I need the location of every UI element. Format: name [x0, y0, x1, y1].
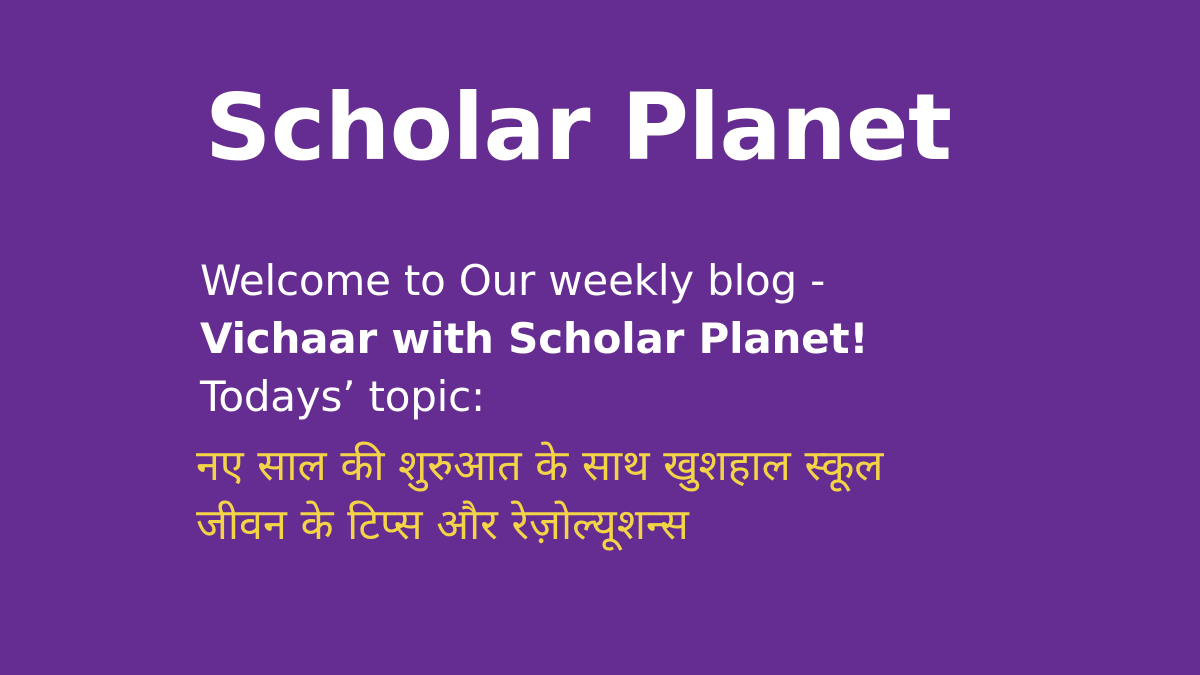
slide-canvas: Scholar Planet Welcome to Our weekly blo… — [0, 0, 1200, 675]
title-block: Scholar Planet — [205, 78, 1105, 177]
body-text-block: Welcome to Our weekly blog - Vichaar wit… — [200, 252, 1160, 426]
topic-label-line: Todays’ topic: — [200, 368, 1160, 426]
hindi-topic-line-1: नए साल की शुरुआत के साथ खुशहाल स्कूल — [196, 437, 1176, 496]
welcome-line: Welcome to Our weekly blog - — [200, 252, 1160, 310]
hindi-topic-line-2: जीवन के टिप्स और रेज़ोल्यूशन्स — [196, 496, 1176, 555]
blog-name-line: Vichaar with Scholar Planet! — [200, 310, 1160, 368]
hindi-topic-block: नए साल की शुरुआत के साथ खुशहाल स्कूल जीव… — [196, 437, 1176, 555]
page-title: Scholar Planet — [205, 78, 1105, 177]
